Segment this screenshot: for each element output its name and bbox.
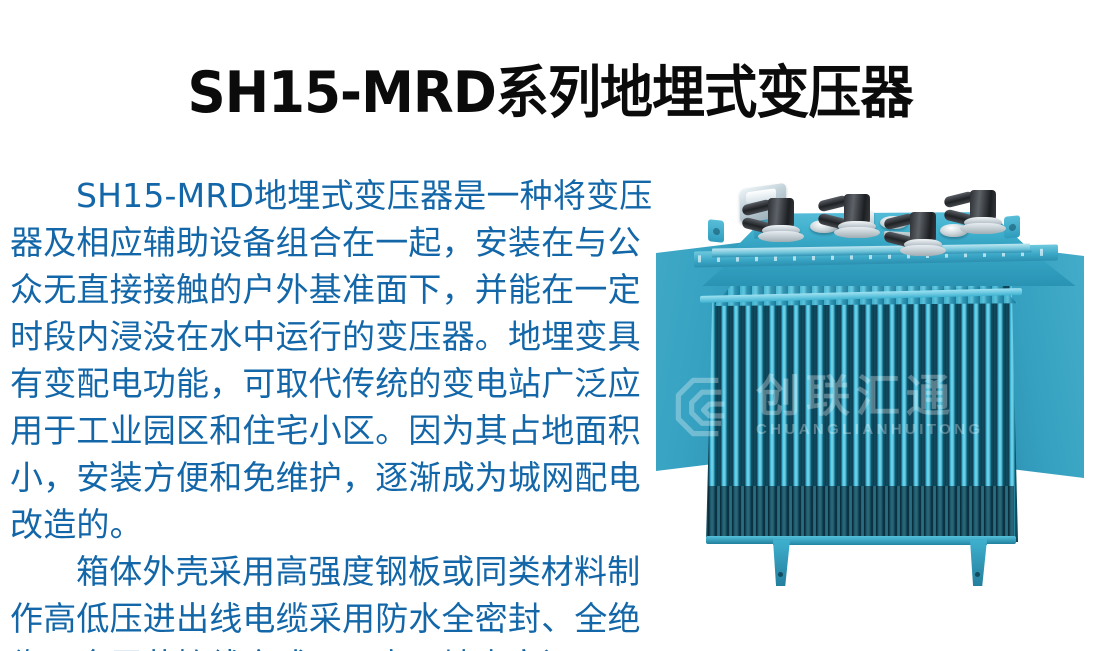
bushing-base xyxy=(834,227,880,238)
bushing-base xyxy=(960,223,1006,234)
page-root: SH15-MRD系列地埋式变压器 SH15-MRD地埋式变压器是一种将变压器及相… xyxy=(0,0,1100,651)
transformer-illustration: 创联汇通 CHUANGLIANHUITONG xyxy=(648,168,1100,613)
bushing-base xyxy=(758,231,804,242)
lifting-lug xyxy=(1004,215,1020,239)
radiator-fin-shadow xyxy=(708,486,1014,538)
description-paragraph-1: SH15-MRD地埋式变压器是一种将变压器及相应辅助设备组合在一起，安装在与公众… xyxy=(10,172,670,548)
base-rail xyxy=(773,538,987,545)
lifting-lug xyxy=(708,219,724,243)
bushing-body xyxy=(910,212,936,242)
product-image: 创联汇通 CHUANGLIANHUITONG xyxy=(648,168,1100,613)
mounting-foot xyxy=(970,540,987,586)
bushing-body xyxy=(844,194,870,224)
bushing-base xyxy=(900,245,946,256)
description-block: SH15-MRD地埋式变压器是一种将变压器及相应辅助设备组合在一起，安装在与公众… xyxy=(10,172,670,651)
bushing-body xyxy=(970,190,996,220)
page-title: SH15-MRD系列地埋式变压器 xyxy=(39,58,1062,128)
mounting-foot xyxy=(773,540,790,586)
bushing-body xyxy=(768,198,794,228)
description-paragraph-2: 箱体外壳采用高强度钢板或同类材料制作高低压进出线电缆采用防水全密封、全绝缘、全屏… xyxy=(10,548,670,651)
